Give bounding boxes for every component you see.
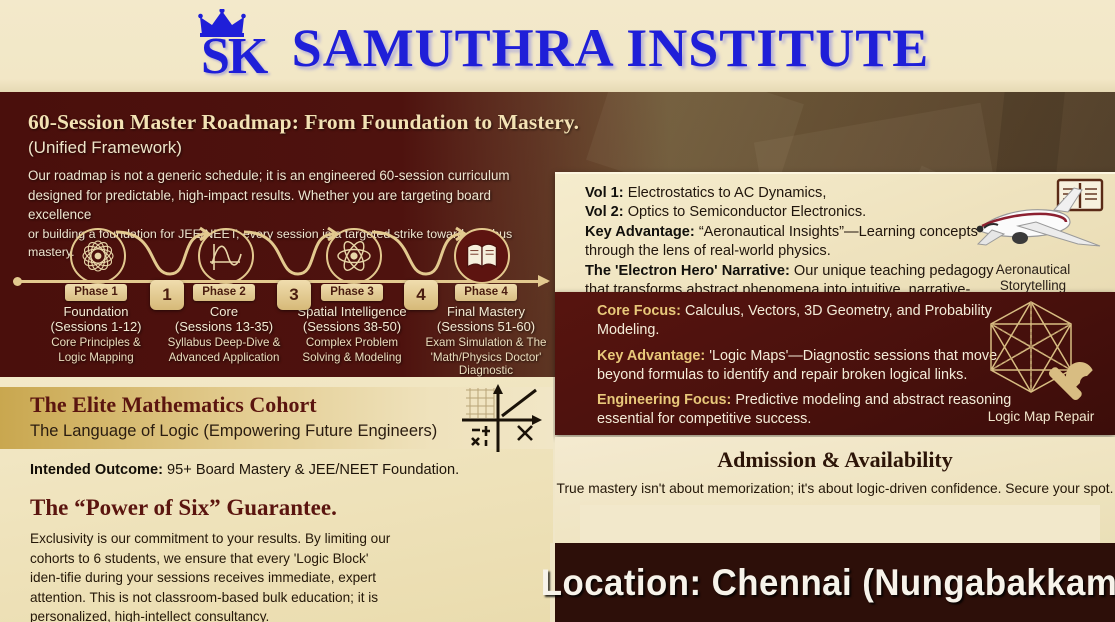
phase-2-sessions: (Sessions 13-35) xyxy=(161,319,287,334)
phase-2-desc-line-1: Syllabus Deep-Dive & xyxy=(161,336,287,350)
phase-1-chip: Phase 1 xyxy=(65,284,126,301)
phase-3-sessions: (Sessions 38-50) xyxy=(289,319,415,334)
physics-item-1-text: Electrostatics to AC Dynamics, xyxy=(624,185,827,201)
physics-item-3-label: Key Advantage: xyxy=(585,224,695,240)
phase-4-chip: Phase 4 xyxy=(455,284,516,301)
location-banner: Location: Chennai (Nungabakkam) xyxy=(555,543,1115,622)
coordinate-graph-icon xyxy=(452,382,548,454)
airplane-icon xyxy=(958,178,1108,256)
timeline-curve-3 xyxy=(370,226,466,280)
math-dark-item-3-label: Engineering Focus: xyxy=(597,392,731,408)
brand-header: SK SAMUTHRA INSTITUTE xyxy=(0,0,1115,92)
logo-monogram: SK xyxy=(186,27,282,86)
connector-badge-1: 1 xyxy=(150,280,184,310)
phase-4-desc-line-2: 'Math/Physics Doctor' Diagnostic xyxy=(416,351,556,379)
physics-item-1-label: Vol 1: xyxy=(585,185,624,201)
physics-panel: Vol 1: Electrostatics to AC Dynamics, Vo… xyxy=(555,172,1115,292)
physics-item-2: Vol 2: Optics to Semiconductor Electroni… xyxy=(585,203,995,222)
phase-1: Phase 1 Foundation (Sessions 1-12) Core … xyxy=(33,282,159,364)
aeronautical-badge: Aeronautical Storytelling xyxy=(957,178,1109,293)
phase-1-desc-line-1: Core Principles & xyxy=(33,336,159,350)
open-book-icon xyxy=(454,228,510,284)
logic-map-badge: Logic Map Repair xyxy=(971,296,1111,424)
connector-badge-3: 4 xyxy=(404,280,438,310)
roadmap-title: 60-Session Master Roadmap: From Foundati… xyxy=(28,110,579,135)
phase-1-desc-line-2: Logic Mapping xyxy=(33,351,159,365)
physics-item-1: Vol 1: Electrostatics to AC Dynamics, xyxy=(585,184,995,203)
logic-map-caption: Logic Map Repair xyxy=(971,409,1111,424)
physics-item-2-text: Optics to Semiconductor Electronics. xyxy=(624,204,867,220)
roadmap-subtitle: (Unified Framework) xyxy=(28,138,182,158)
institute-name: SAMUTHRA INSTITUTE xyxy=(292,17,930,79)
admission-section: Admission & Availability True mastery is… xyxy=(555,437,1115,543)
math-dark-item-1-label: Core Focus: xyxy=(597,303,681,319)
roadmap-timeline: Phase 1 Foundation (Sessions 1-12) Core … xyxy=(10,220,555,368)
aeronautical-caption-line-2: Storytelling xyxy=(957,278,1109,293)
connector-badge-2: 3 xyxy=(277,280,311,310)
location-text: Location: Chennai (Nungabakkam) xyxy=(541,562,1115,604)
admission-inner-box xyxy=(580,505,1100,543)
infographic-poster: SK SAMUTHRA INSTITUTE 60-Session Master … xyxy=(0,0,1115,622)
aeronautical-caption-line-1: Aeronautical xyxy=(957,262,1109,277)
math-cohort-outcome-text: 95+ Board Mastery & JEE/NEET Foundation. xyxy=(163,462,459,478)
physics-item-4-label: The 'Electron Hero' Narrative: xyxy=(585,263,790,279)
phase-1-sessions: (Sessions 1-12) xyxy=(33,319,159,334)
math-cohort-title: The Elite Mathematics Cohort xyxy=(30,392,317,418)
brand-lockup: SK SAMUTHRA INSTITUTE xyxy=(186,11,930,85)
phase-2-chip: Phase 2 xyxy=(193,284,254,301)
orbital-atom-icon xyxy=(70,228,126,284)
math-cohort-outcome-label: Intended Outcome: xyxy=(30,462,163,478)
power-of-six-title: The “Power of Six” Guarantee. xyxy=(30,495,337,521)
phase-4-sessions: (Sessions 51-60) xyxy=(416,319,556,334)
physics-item-3: Key Advantage: “Aeronautical Insights”—L… xyxy=(585,223,995,262)
math-dark-item-1: Core Focus: Calculus, Vectors, 3D Geomet… xyxy=(597,302,1022,341)
logo-block: SK xyxy=(186,11,282,85)
power-of-six-body: Exclusivity is our commitment to your re… xyxy=(30,529,395,622)
phase-1-name: Foundation xyxy=(33,304,159,319)
physics-item-2-label: Vol 2: xyxy=(585,204,624,220)
roadmap-body-line-2: designed for predictable, high-impact re… xyxy=(28,186,548,225)
admission-subtitle: True mastery isn't about memorization; i… xyxy=(555,481,1115,496)
phase-4-desc-line-1: Exam Simulation & The xyxy=(416,336,556,350)
math-dark-panel: Core Focus: Calculus, Vectors, 3D Geomet… xyxy=(555,292,1115,435)
math-cohort-subtitle: The Language of Logic (Empowering Future… xyxy=(30,422,437,441)
phase-3-desc-line-2: Solving & Modeling xyxy=(289,351,415,365)
math-dark-item-3: Engineering Focus: Predictive modeling a… xyxy=(597,391,1022,430)
timeline-curve-1 xyxy=(114,226,210,280)
phase-3-chip: Phase 3 xyxy=(321,284,382,301)
math-dark-item-2-label: Key Advantage: xyxy=(597,348,705,364)
icosahedron-wrench-icon xyxy=(975,296,1107,408)
phase-3-desc-line-1: Complex Problem xyxy=(289,336,415,350)
admission-title: Admission & Availability xyxy=(555,447,1115,473)
math-cohort-panel: The Elite Mathematics Cohort The Languag… xyxy=(0,377,553,622)
math-cohort-outcome: Intended Outcome: 95+ Board Mastery & JE… xyxy=(30,462,459,478)
waveform-graph-icon xyxy=(198,228,254,284)
roadmap-body-line-1: Our roadmap is not a generic schedule; i… xyxy=(28,166,548,186)
phase-2-desc-line-2: Advanced Application xyxy=(161,351,287,365)
atom-icon xyxy=(326,228,382,284)
math-dark-item-2: Key Advantage: 'Logic Maps'—Diagnostic s… xyxy=(597,347,1022,386)
timeline-curve-2 xyxy=(242,226,338,280)
